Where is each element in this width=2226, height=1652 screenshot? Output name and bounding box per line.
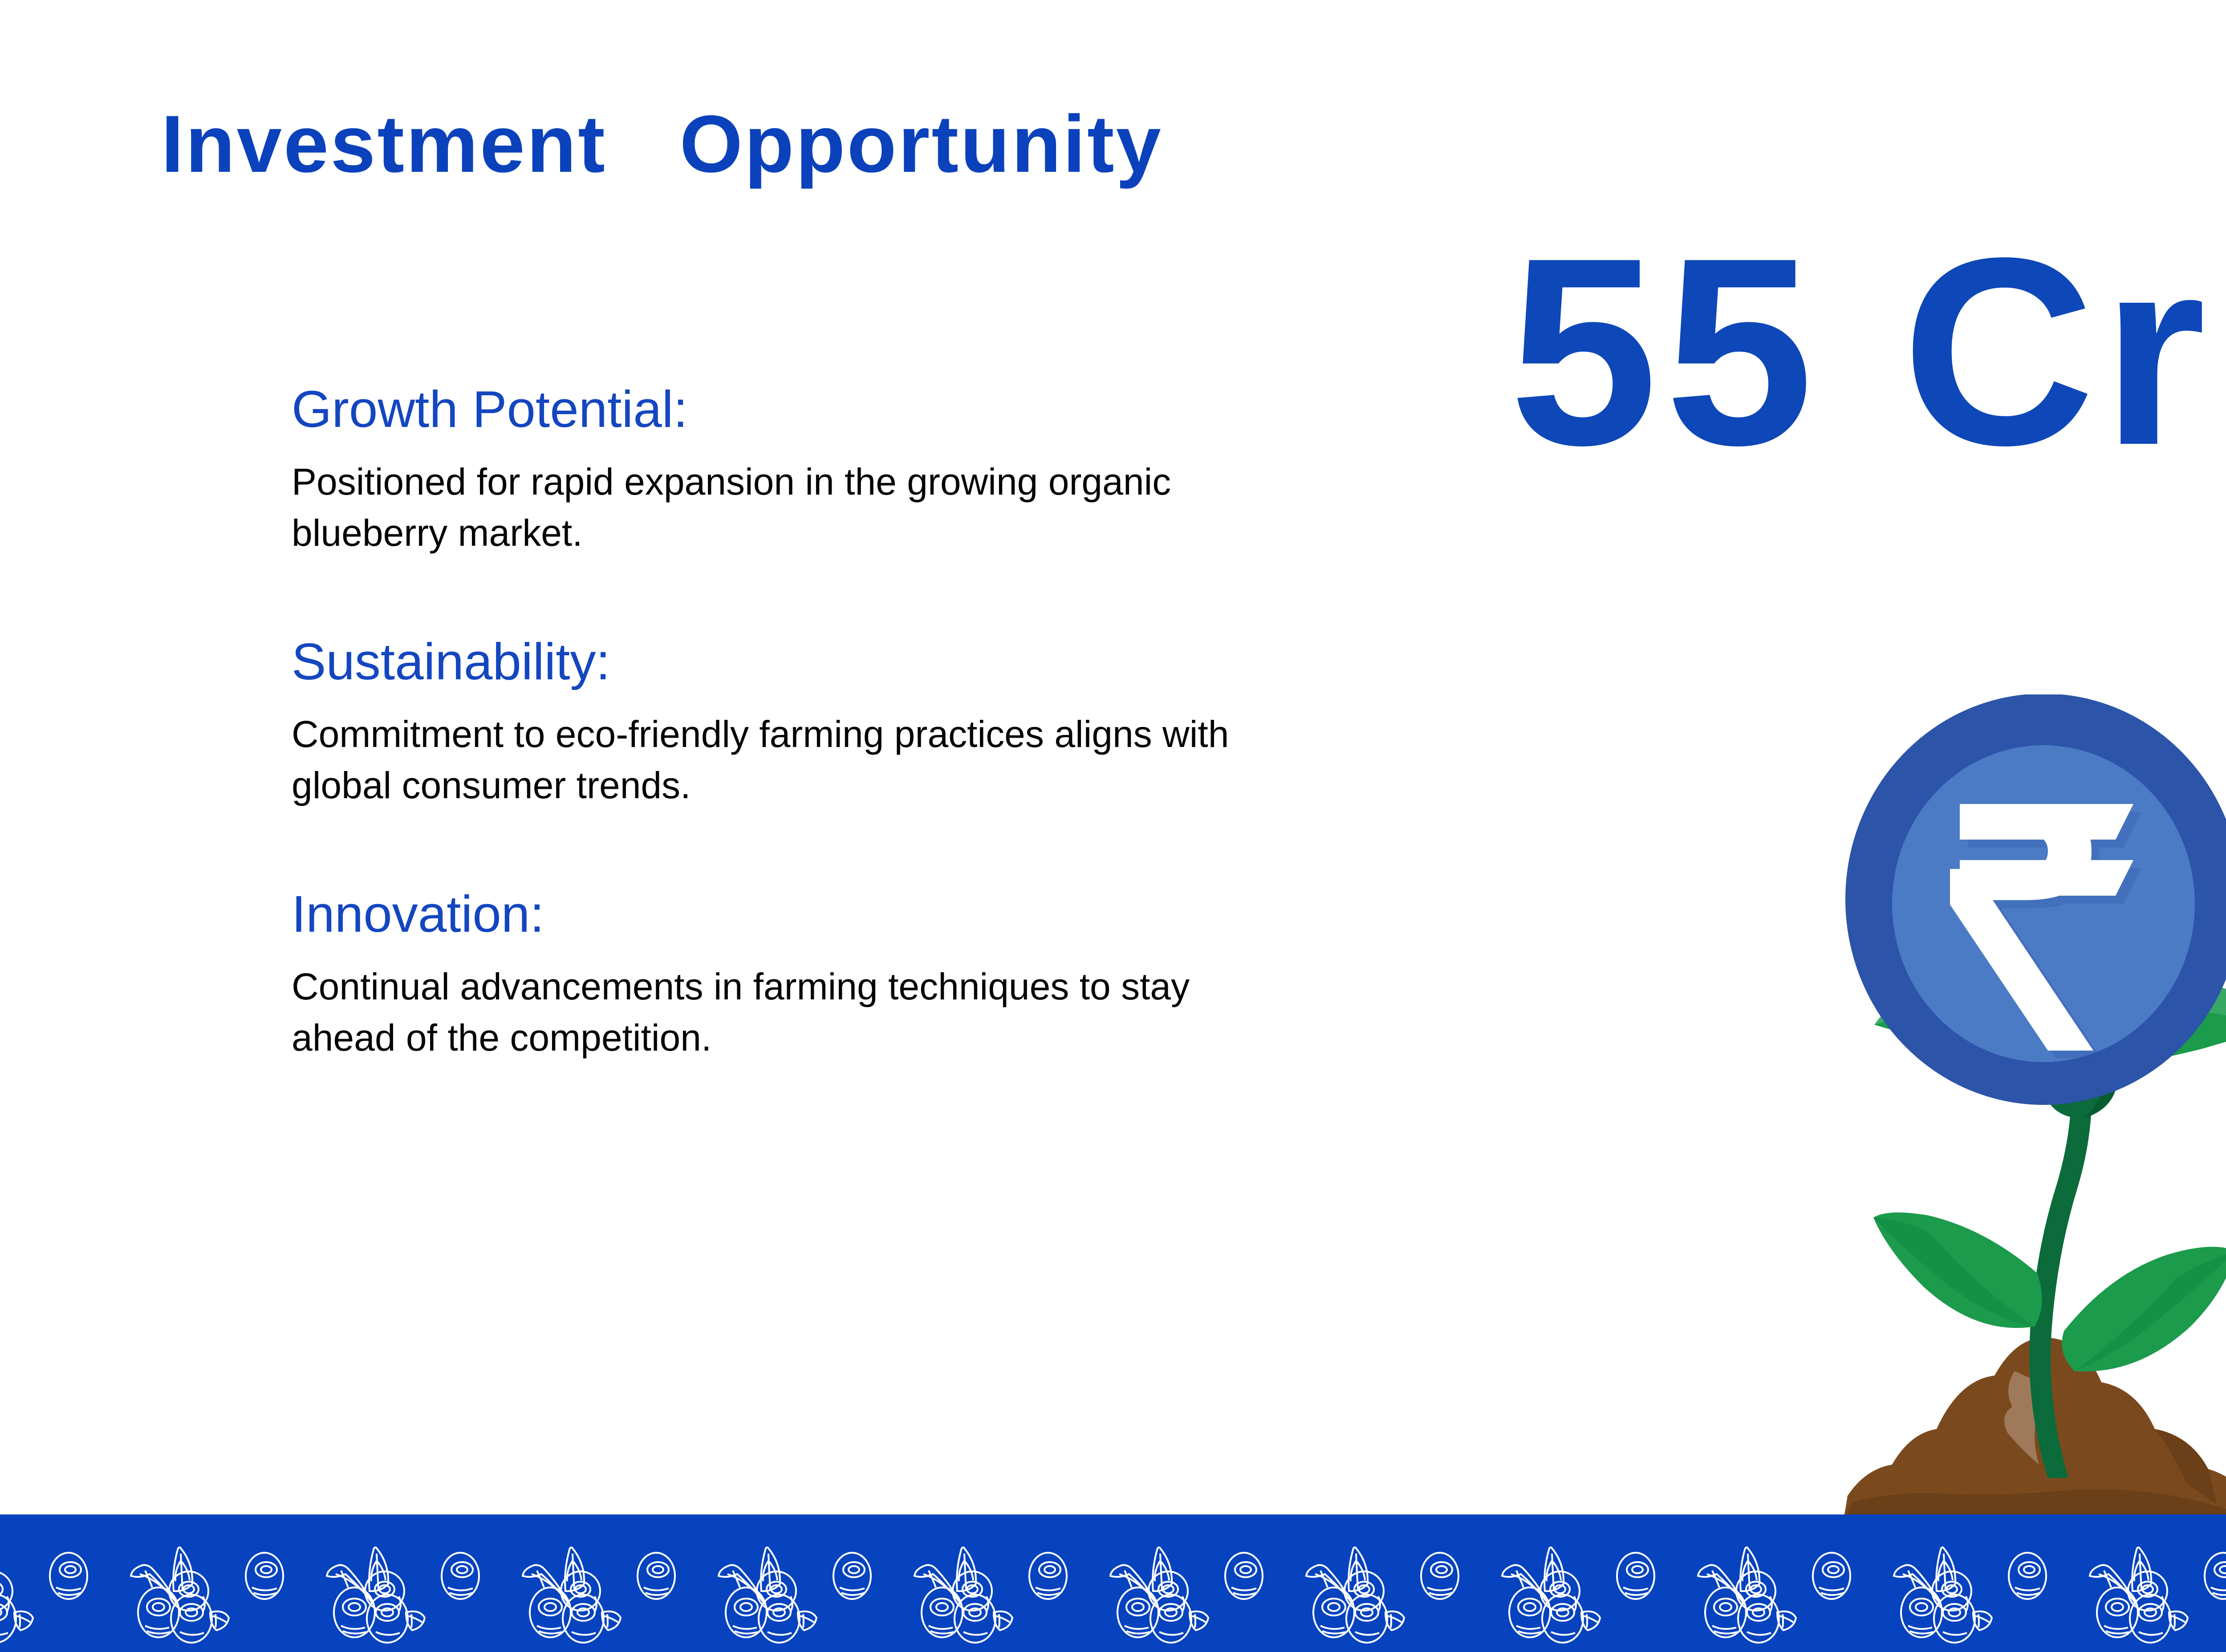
bullet-body: Continual advancements in farming techni… xyxy=(292,961,1271,1063)
investment-figure: 55 Cr xyxy=(1509,218,2213,485)
leaf-lower-left xyxy=(1873,1213,2042,1328)
leaf-lower-right xyxy=(2062,1247,2226,1372)
blueberry-pattern-band xyxy=(0,1514,2226,1652)
rupee-coin-sprout-illustration xyxy=(1816,694,2226,1522)
page-title: Investment Opportunity xyxy=(161,101,1163,187)
rupee-coin-icon xyxy=(1845,694,2226,1105)
bullet-innovation: Innovation: Continual advancements in fa… xyxy=(292,885,1316,1063)
bullet-body: Positioned for rapid expansion in the gr… xyxy=(292,456,1271,559)
slide-canvas: Investment Opportunity Growth Potential:… xyxy=(0,0,2226,1652)
band-motifs xyxy=(0,1547,2226,1643)
bullet-heading: Sustainability: xyxy=(292,633,1316,691)
bullet-body: Commitment to eco-friendly farming pract… xyxy=(292,709,1271,811)
bullet-growth-potential: Growth Potential: Positioned for rapid e… xyxy=(292,381,1316,559)
bullet-heading: Innovation: xyxy=(292,885,1316,943)
bullet-sustainability: Sustainability: Commitment to eco-friend… xyxy=(292,633,1316,811)
bullet-list: Growth Potential: Positioned for rapid e… xyxy=(292,381,1316,1063)
bullet-heading: Growth Potential: xyxy=(292,381,1316,438)
